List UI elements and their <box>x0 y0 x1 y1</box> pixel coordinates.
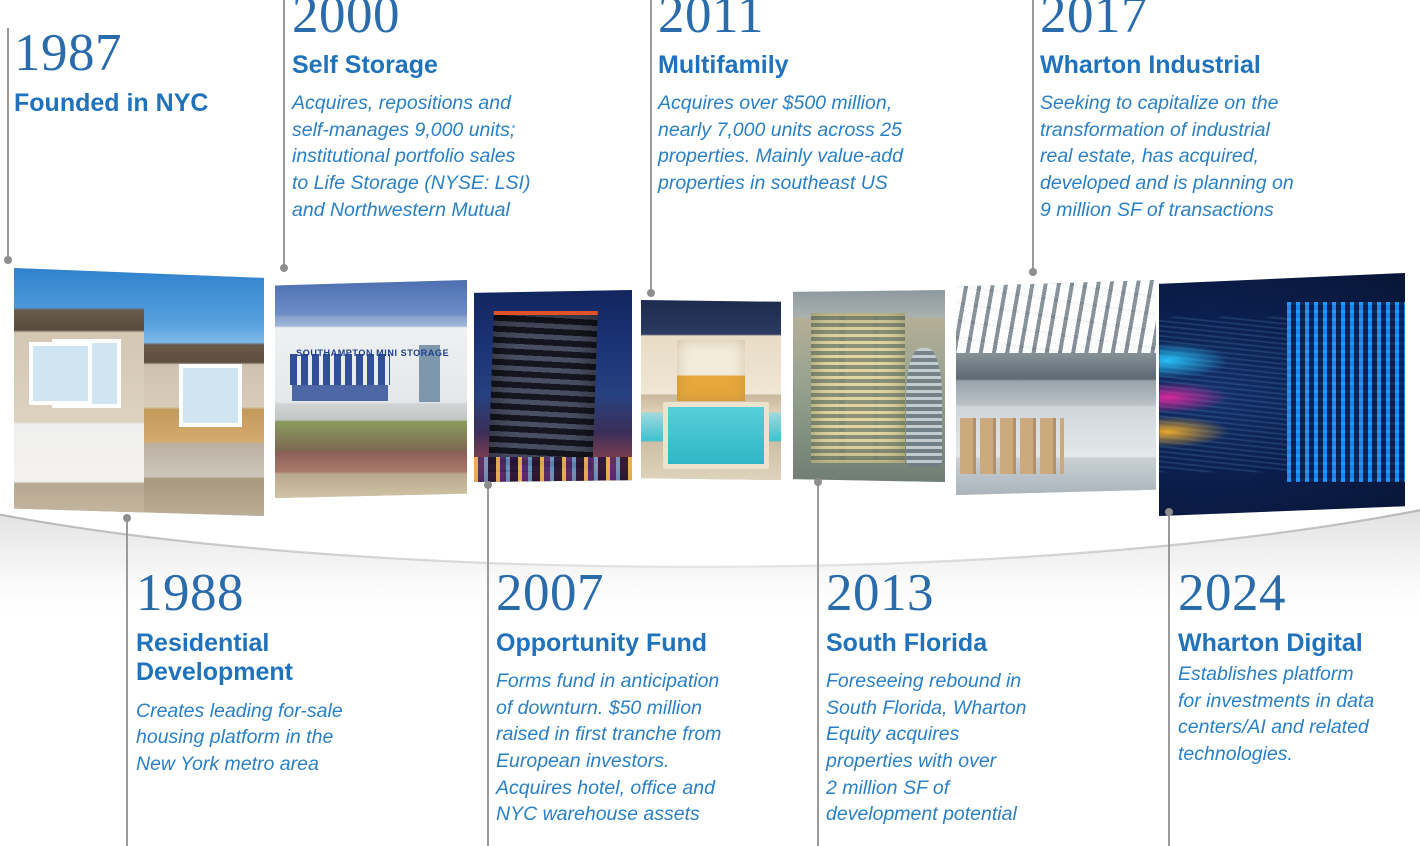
multifamily-pool-image <box>641 300 781 480</box>
connector-line <box>650 0 652 293</box>
self-storage-facility-image <box>275 280 467 498</box>
residential-construction-photo <box>14 268 264 516</box>
entry-year: 2007 <box>496 568 776 620</box>
timeline-entry-2013: 2013 South Florida Foreseeing rebound in… <box>826 568 1086 828</box>
entry-description: Establishes platform for investments in … <box>1178 661 1418 767</box>
entry-title: Residential Development <box>136 629 386 688</box>
entry-title: South Florida <box>826 629 1086 659</box>
timeline-entry-1988: 1988 Residential Development Creates lea… <box>136 568 386 777</box>
entry-description: Foreseeing rebound in South Florida, Wha… <box>826 668 1086 827</box>
connector-dot <box>1029 268 1037 276</box>
south-florida-aerial-image <box>793 290 945 482</box>
connector-line <box>487 485 489 846</box>
hotel-tower-photo <box>474 290 632 482</box>
entry-year: 2013 <box>826 568 1086 620</box>
timeline-entry-2000: 2000 Self Storage Acquires, repositions … <box>292 0 582 223</box>
industrial-warehouse-photo <box>956 280 1156 495</box>
connector-line <box>1168 512 1170 846</box>
industrial-warehouse-image <box>956 280 1156 495</box>
entry-description: Forms fund in anticipation of downturn. … <box>496 668 776 827</box>
timeline-entry-2007: 2007 Opportunity Fund Forms fund in anti… <box>496 568 776 828</box>
timeline-entry-2017: 2017 Wharton Industrial Seeking to capit… <box>1040 0 1340 223</box>
timeline-entry-2011: 2011 Multifamily Acquires over $500 mill… <box>658 0 958 197</box>
multifamily-pool-photo <box>641 300 781 480</box>
entry-description: Acquires, repositions and self-manages 9… <box>292 90 582 223</box>
entry-description: Seeking to capitalize on the transformat… <box>1040 90 1340 223</box>
entry-title: Multifamily <box>658 51 958 81</box>
entry-description: Acquires over $500 million, nearly 7,000… <box>658 90 958 196</box>
connector-line <box>126 518 128 846</box>
connector-line <box>1032 0 1034 272</box>
timeline-entry-1987: 1987 Founded in NYC <box>14 28 264 128</box>
entry-title: Founded in NYC <box>14 89 264 119</box>
connector-dot <box>280 264 288 272</box>
timeline-infographic: SOUTHAMPTON MINI STORAGE <box>0 0 1420 846</box>
entry-title: Wharton Industrial <box>1040 51 1340 81</box>
data-center-ai-photo <box>1159 273 1405 516</box>
entry-year: 2011 <box>658 0 958 42</box>
self-storage-facility-photo: SOUTHAMPTON MINI STORAGE <box>275 280 467 498</box>
connector-dot <box>647 289 655 297</box>
entry-year: 2000 <box>292 0 582 42</box>
entry-title: Wharton Digital <box>1178 629 1418 659</box>
residential-construction-image <box>14 268 264 516</box>
entry-year: 1988 <box>136 568 386 620</box>
entry-year: 2017 <box>1040 0 1340 42</box>
connector-line <box>283 0 285 268</box>
entry-year: 2024 <box>1178 568 1418 620</box>
connector-dot <box>484 481 492 489</box>
timeline-entry-2024: 2024 Wharton Digital Establishes platfor… <box>1178 568 1418 768</box>
hotel-tower-image <box>474 290 632 482</box>
data-center-ai-image <box>1159 273 1405 516</box>
self-storage-sign-text: SOUTHAMPTON MINI STORAGE <box>296 348 449 359</box>
entry-year: 1987 <box>14 28 264 80</box>
connector-dot <box>4 256 12 264</box>
entry-title: Self Storage <box>292 51 582 81</box>
entry-description: Creates leading for-sale housing platfor… <box>136 698 386 778</box>
entry-title: Opportunity Fund <box>496 629 776 659</box>
connector-line <box>7 28 9 260</box>
connector-line <box>817 482 819 846</box>
connector-dot <box>123 514 131 522</box>
south-florida-aerial-photo <box>793 290 945 482</box>
